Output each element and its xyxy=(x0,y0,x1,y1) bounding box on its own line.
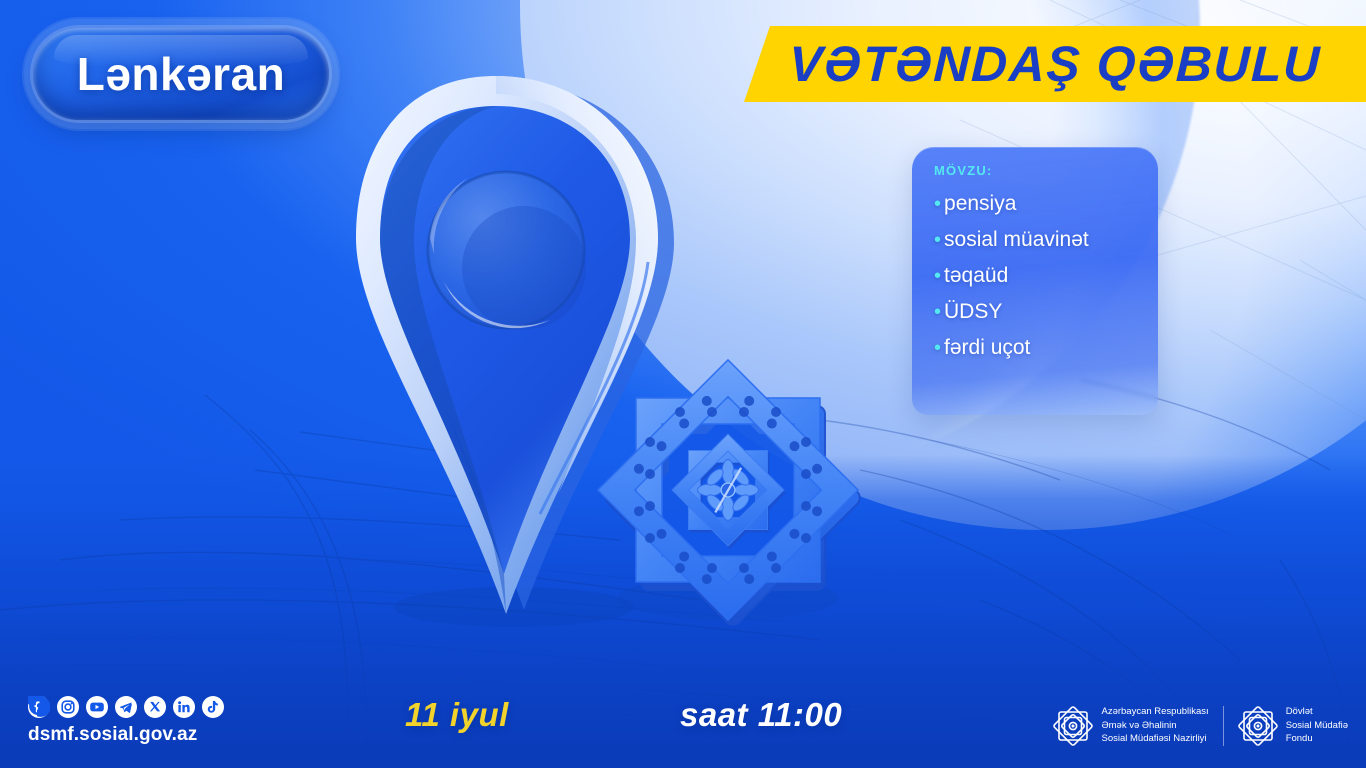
title-text: VƏTƏNDAŞ QƏBULU xyxy=(788,35,1322,93)
fund-line-1: Dövlət xyxy=(1286,706,1348,719)
ministry-line-3: Sosial Müdafiəsi Nazirliyi xyxy=(1101,733,1208,746)
fund-logo-text: Dövlət Sosial Müdafiə Fondu xyxy=(1286,706,1348,746)
topic-item: • ÜDSY xyxy=(934,300,1158,324)
topic-item: • sosial müavinət xyxy=(934,228,1158,252)
ministry-logo-text: Azərbaycan Respublikası Əmək və Əhalinin… xyxy=(1101,706,1208,746)
topic-label: sosial müavinət xyxy=(944,228,1089,252)
logo-divider xyxy=(1223,706,1224,746)
site-url[interactable]: dsmf.sosial.gov.az xyxy=(28,724,224,746)
dsmf-star-ornament-3d xyxy=(592,358,864,630)
x-twitter-icon[interactable] xyxy=(144,696,166,718)
city-label-pill: Lənkəran xyxy=(33,28,329,120)
title-banner: VƏTƏNDAŞ QƏBULU xyxy=(744,26,1366,102)
fund-line-2: Sosial Müdafiə xyxy=(1286,720,1348,733)
bullet-icon: • xyxy=(934,230,941,250)
topic-label: fərdi uçot xyxy=(944,336,1030,360)
city-name: Lənkəran xyxy=(77,47,286,101)
topic-item: • təqaüd xyxy=(934,264,1158,288)
linkedin-icon[interactable] xyxy=(173,696,195,718)
social-icon-row xyxy=(28,696,224,718)
ministry-line-2: Əmək və Əhalinin xyxy=(1101,720,1208,733)
ministry-line-1: Azərbaycan Respublikası xyxy=(1101,706,1208,719)
event-date: 11 iyul xyxy=(405,696,509,734)
instagram-icon[interactable] xyxy=(57,696,79,718)
facebook-icon[interactable] xyxy=(28,696,50,718)
bullet-icon: • xyxy=(934,194,941,214)
topic-item: • fərdi uçot xyxy=(934,336,1158,360)
topic-label: pensiya xyxy=(944,192,1016,216)
poster-canvas: Lənkəran VƏTƏNDAŞ QƏBULU MÖVZU: • pensiy… xyxy=(0,0,1366,768)
topic-panel: MÖVZU: • pensiya • sosial müavinət • təq… xyxy=(912,147,1158,415)
bullet-icon: • xyxy=(934,338,941,358)
fund-line-3: Fondu xyxy=(1286,733,1348,746)
footer-bar: dsmf.sosial.gov.az 11 iyul saat 11:00 xyxy=(0,676,1366,768)
topic-label: ÜDSY xyxy=(944,300,1002,324)
fund-logo: Dövlət Sosial Müdafiə Fondu xyxy=(1238,706,1348,746)
logo-group: Azərbaycan Respublikası Əmək və Əhalinin… xyxy=(1053,706,1348,746)
topic-label: təqaüd xyxy=(944,264,1008,288)
ministry-star-emblem-icon xyxy=(1053,706,1093,746)
social-block: dsmf.sosial.gov.az xyxy=(28,696,224,746)
bullet-icon: • xyxy=(934,266,941,286)
youtube-icon[interactable] xyxy=(86,696,108,718)
topic-item: • pensiya xyxy=(934,192,1158,216)
topic-panel-heading: MÖVZU: xyxy=(934,163,1158,178)
fund-star-emblem-icon xyxy=(1238,706,1278,746)
telegram-icon[interactable] xyxy=(115,696,137,718)
event-time: saat 11:00 xyxy=(680,696,842,734)
ministry-logo: Azərbaycan Respublikası Əmək və Əhalinin… xyxy=(1053,706,1208,746)
tiktok-icon[interactable] xyxy=(202,696,224,718)
bullet-icon: • xyxy=(934,302,941,322)
